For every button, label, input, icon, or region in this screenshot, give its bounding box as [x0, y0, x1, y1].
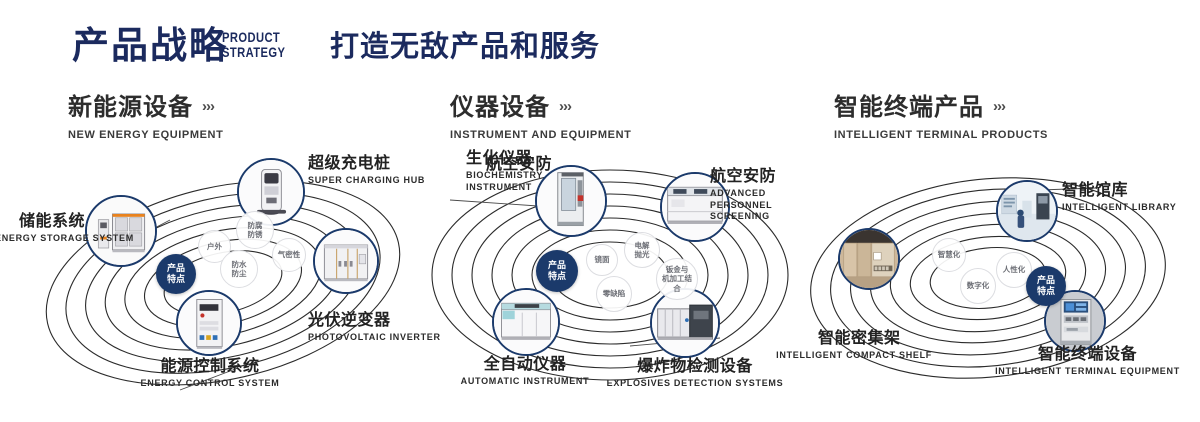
page-header: 产品战略 PRODUCT STRATEGY 打造无敌产品和服务: [0, 0, 1200, 88]
node-label-cn: 智能馆库: [1062, 182, 1200, 199]
page-title-en-line2: STRATEGY: [222, 45, 285, 60]
section-title-intelligent: 智能终端产品››› INTELLIGENT TERMINAL PRODUCTS: [834, 96, 1048, 141]
node-label-en: ADVANCED PERSONNEL SCREENING: [710, 188, 805, 222]
node-automatic-instrument[interactable]: [492, 288, 560, 356]
node-label-compact-shelf: 智能密集架 INTELLIGENT COMPACT SHELF: [772, 330, 932, 362]
cluster-new-energy: 储能系统 ENERGY STORAGE SYSTEM 超级充电桩 SUPER C…: [30, 150, 430, 410]
feature-bubble-sheetmetal-machining: 钣金与机加工结合: [656, 258, 698, 300]
node-photovoltaic-inverter[interactable]: [313, 228, 379, 294]
node-label-en: INTELLIGENT TERMINAL EQUIPMENT: [980, 366, 1195, 377]
chevron-right-icons: ›››: [202, 98, 214, 115]
node-label-en: SUPER CHARGING HUB: [308, 175, 428, 186]
node-label-photovoltaic-inverter: 光伏逆变器 PHOTOVOLTAIC INVERTER: [308, 312, 438, 344]
node-label-smart-library: 智能馆库 INTELLIGENT LIBRARY: [1062, 182, 1200, 214]
core-bubble-line2: 特点: [1035, 286, 1057, 297]
core-bubble-line1: 产品: [546, 260, 568, 271]
section-title-new-energy: 新能源设备››› NEW ENERGY EQUIPMENT: [68, 96, 223, 141]
core-bubble-product-features: 产品 特点: [156, 254, 196, 294]
feature-label: 数字化: [965, 281, 992, 290]
feature-bubble-intelligent: 智慧化: [932, 238, 966, 272]
page-title-en-line1: PRODUCT: [222, 30, 285, 45]
page-title: 产品战略: [72, 27, 228, 64]
node-label-smart-terminal: 智能终端设备 INTELLIGENT TERMINAL EQUIPMENT: [980, 346, 1195, 378]
chevron-right-icons: ›››: [993, 98, 1005, 115]
core-bubble-line1: 产品: [165, 263, 187, 274]
node-smart-library[interactable]: [996, 180, 1058, 242]
feature-label: 零缺陷: [601, 289, 628, 298]
cluster-instrument: 航空安防 生化仪器 BIOCHEMISTRY INSTRUMENT 航空安防 A…: [420, 150, 820, 410]
feature-bubble-mirror: 镜面: [586, 244, 618, 276]
section-title-instrument: 仪器设备››› INSTRUMENT AND EQUIPMENT: [450, 96, 631, 141]
core-bubble-product-features: 产品 特点: [1026, 266, 1066, 306]
feature-label: 户外: [205, 242, 224, 251]
node-label-biochemistry-instrument: 生化仪器 BIOCHEMISTRY INSTRUMENT: [466, 150, 596, 193]
page-title-english: PRODUCT STRATEGY: [222, 30, 285, 60]
explosives-detector-icon: [652, 290, 718, 356]
page-subtitle: 打造无敌产品和服务: [330, 33, 600, 62]
node-label-en: INTELLIGENT COMPACT SHELF: [772, 350, 932, 361]
node-energy-storage-system[interactable]: [85, 195, 157, 267]
node-label-cn: 智能密集架: [772, 330, 932, 347]
feature-label: 电解抛光: [633, 241, 652, 260]
feature-label: 防腐防锈: [246, 221, 265, 240]
section-title-en: INTELLIGENT TERMINAL PRODUCTS: [834, 129, 1048, 141]
node-label-cn: 生化仪器: [466, 150, 596, 167]
section-title-en: NEW ENERGY EQUIPMENT: [68, 129, 223, 141]
node-label-explosives-detection: 爆炸物检测设备 EXPLOSIVES DETECTION SYSTEMS: [570, 358, 820, 390]
node-label-cn: 智能终端设备: [980, 346, 1195, 363]
node-label-cn: 光伏逆变器: [308, 312, 438, 329]
node-explosives-detection[interactable]: [650, 288, 720, 358]
feature-bubble-zero-defect: 零缺陷: [596, 276, 632, 312]
node-energy-control-system[interactable]: [176, 290, 242, 356]
control-cabinet-icon: [178, 292, 240, 354]
node-label-cn: 能源控制系统: [85, 358, 335, 375]
feature-bubble-digital: 数字化: [960, 268, 996, 304]
feature-bubble-airtight: 气密性: [272, 238, 306, 272]
node-label-cn: 储能系统: [0, 213, 85, 230]
section-title-cn: 新能源设备: [68, 96, 193, 120]
feature-bubble-waterproof: 防水防尘: [220, 250, 258, 288]
feature-label: 防水防尘: [230, 260, 249, 279]
feature-label: 智慧化: [936, 250, 963, 259]
chevron-right-icons: ›››: [559, 98, 571, 115]
pv-inverter-icon: [315, 230, 377, 292]
node-label-en: ENERGY CONTROL SYSTEM: [85, 378, 335, 389]
compact-shelf-icon: [840, 230, 898, 288]
node-label-energy-control-system: 能源控制系统 ENERGY CONTROL SYSTEM: [85, 358, 335, 390]
node-label-en: BIOCHEMISTRY INSTRUMENT: [466, 170, 540, 193]
node-label-en: PHOTOVOLTAIC INVERTER: [308, 332, 438, 343]
automatic-instrument-icon: [494, 290, 558, 354]
feature-label: 钣金与机加工结合: [657, 265, 697, 293]
feature-label: 气密性: [276, 250, 303, 259]
product-strategy-infographic: 产品战略 PRODUCT STRATEGY 打造无敌产品和服务 新能源设备›››…: [0, 0, 1200, 422]
core-bubble-product-features: 产品 特点: [536, 250, 578, 292]
node-label-en: INTELLIGENT LIBRARY: [1062, 202, 1200, 213]
core-bubble-line2: 特点: [165, 274, 187, 285]
feature-label: 镜面: [593, 255, 612, 264]
core-bubble-line1: 产品: [1035, 275, 1057, 286]
node-label-en: EXPLOSIVES DETECTION SYSTEMS: [570, 378, 820, 389]
feature-label: 人性化: [1001, 265, 1028, 274]
core-bubble-line2: 特点: [546, 271, 568, 282]
section-title-cn: 智能终端产品: [834, 96, 984, 120]
section-title-cn: 仪器设备: [450, 96, 550, 120]
feature-bubble-electropolish: 电解抛光: [624, 232, 660, 268]
node-label-en: ENERGY STORAGE SYSTEM: [0, 233, 85, 244]
battery-cabinet-icon: [87, 197, 155, 265]
feature-bubble-anticorrosion: 防腐防锈: [236, 211, 274, 249]
smart-library-icon: [998, 182, 1056, 240]
node-compact-shelf[interactable]: [838, 228, 900, 290]
cluster-intelligent: 智能馆库 INTELLIGENT LIBRARY 智能密集架 INT: [800, 150, 1200, 410]
node-label-energy-storage-system: 储能系统 ENERGY STORAGE SYSTEM: [0, 213, 85, 245]
section-title-en: INSTRUMENT AND EQUIPMENT: [450, 129, 631, 141]
